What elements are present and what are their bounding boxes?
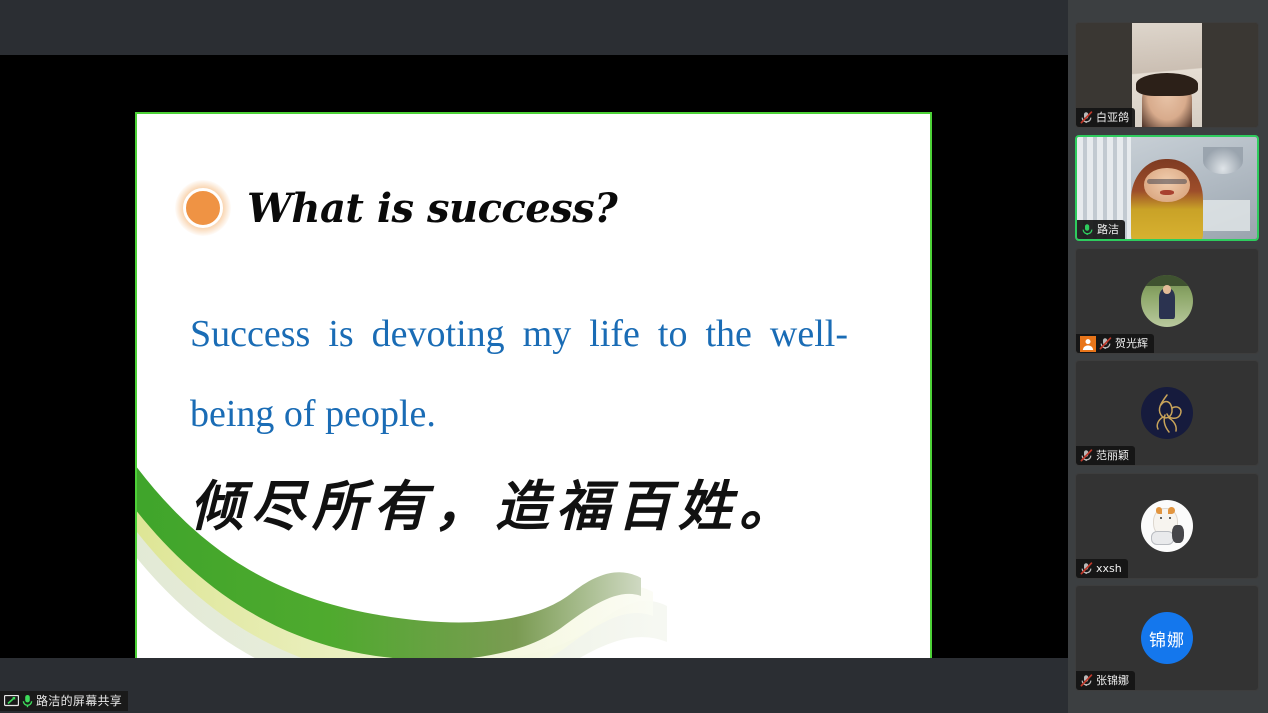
slide-chinese-text: 倾尽所有，造福百姓。	[190, 462, 890, 541]
screen-share-label: 路洁的屏幕共享	[36, 695, 122, 707]
participant-namebar: 贺光辉	[1076, 334, 1154, 353]
avatar	[1141, 275, 1193, 327]
presentation-slide[interactable]: What is success? Success is devoting my …	[135, 112, 932, 712]
participant-name: 贺光辉	[1115, 338, 1148, 349]
microphone-muted-icon	[1080, 111, 1093, 124]
meeting-top-bar	[0, 0, 1068, 55]
zoom-meeting-window: What is success? Success is devoting my …	[0, 0, 1268, 713]
microphone-muted-icon	[1080, 449, 1093, 462]
participant-tile[interactable]: 路洁	[1075, 135, 1259, 241]
participant-name: 路洁	[1097, 224, 1119, 235]
participant-namebar: xxsh	[1076, 559, 1128, 578]
slide-english-text: Success is devoting my life to the well-…	[190, 294, 848, 454]
avatar	[1141, 387, 1193, 439]
shared-screen-stage[interactable]: What is success? Success is devoting my …	[0, 55, 1068, 658]
slide-title: What is success?	[247, 185, 617, 232]
microphone-muted-icon	[1099, 337, 1112, 350]
microphone-muted-icon	[1080, 674, 1093, 687]
microphone-muted-icon	[1080, 562, 1093, 575]
meeting-bottom-bar	[0, 658, 1068, 713]
screen-share-status: 路洁的屏幕共享	[0, 691, 128, 711]
participant-tile[interactable]: 贺光辉	[1075, 248, 1259, 354]
participant-namebar: 张锦娜	[1076, 671, 1135, 690]
microphone-on-icon	[1081, 223, 1094, 236]
participant-name: 白亚鸽	[1096, 112, 1129, 123]
avatar: 锦娜	[1141, 612, 1193, 664]
participant-name: 张锦娜	[1096, 675, 1129, 686]
microphone-on-icon	[22, 694, 33, 708]
participant-name: xxsh	[1096, 563, 1122, 574]
participant-namebar: 白亚鸽	[1076, 108, 1135, 127]
participant-tile[interactable]: 锦娜 张锦娜	[1075, 585, 1259, 691]
participant-tile[interactable]: xxsh	[1075, 473, 1259, 579]
host-person-icon	[1080, 336, 1096, 352]
participant-namebar: 范丽颖	[1076, 446, 1135, 465]
participant-tile[interactable]: 范丽颖	[1075, 360, 1259, 466]
participant-tile[interactable]: 白亚鸽	[1075, 22, 1259, 128]
participant-rail[interactable]: 白亚鸽 路洁	[1068, 0, 1268, 713]
slide-title-row: What is success?	[175, 180, 617, 236]
participant-name: 范丽颖	[1096, 450, 1129, 461]
avatar	[1141, 500, 1193, 552]
participant-namebar: 路洁	[1077, 220, 1125, 239]
screen-share-icon	[4, 695, 19, 708]
orange-circle-bullet-icon	[175, 180, 231, 236]
